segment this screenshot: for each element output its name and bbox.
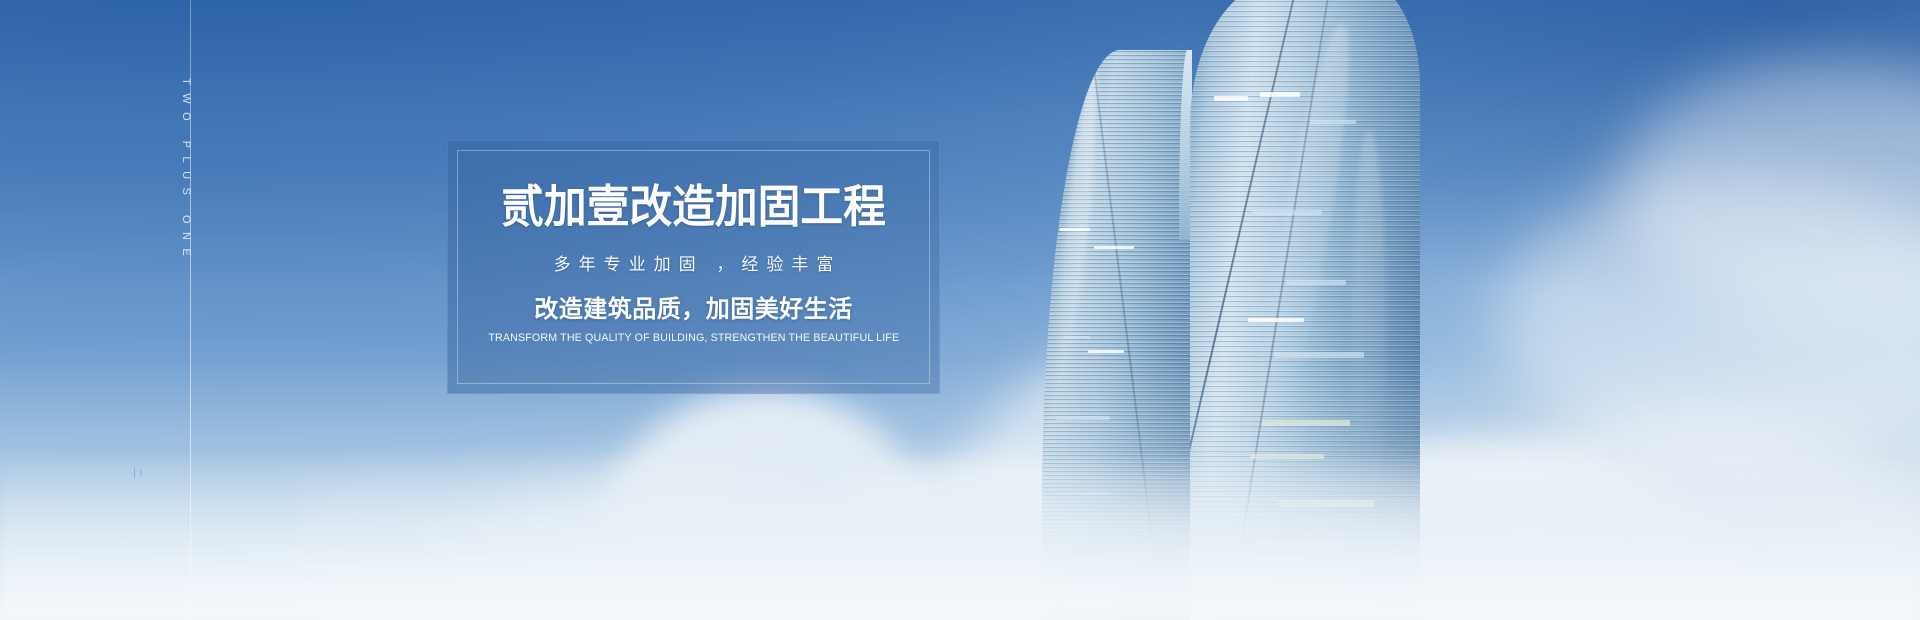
hero-text-panel: 贰加壹改造加固工程 多年专业加固 ，经验丰富 改造建筑品质，加固美好生活 TRA… [447,140,940,394]
window-glint [1064,336,1090,339]
hero-slogan-english: TRANSFORM THE QUALITY OF BUILDING, STREN… [488,333,899,344]
hero-subtitle: 多年专业加固 ，经验丰富 [546,256,842,273]
hero-slogan: 改造建筑品质，加固美好生活 [534,298,853,322]
panel-content: 贰加壹改造加固工程 多年专业加固 ，经验丰富 改造建筑品质，加固美好生活 TRA… [447,140,940,394]
page-title: 贰加壹改造加固工程 [501,184,886,229]
brand-corner-mark: 二 [131,468,146,479]
brand-vertical-text: TWO PLUS ONE [180,78,192,264]
banner-hero: TWO PLUS ONE 二 贰加壹改造加固工程 多年专业加固 ，经验丰富 改造… [0,0,1920,620]
window-glint [1088,350,1124,353]
window-glint [1060,228,1090,231]
brand-strip: TWO PLUS ONE 二 [0,0,300,620]
window-glint [1094,246,1134,249]
